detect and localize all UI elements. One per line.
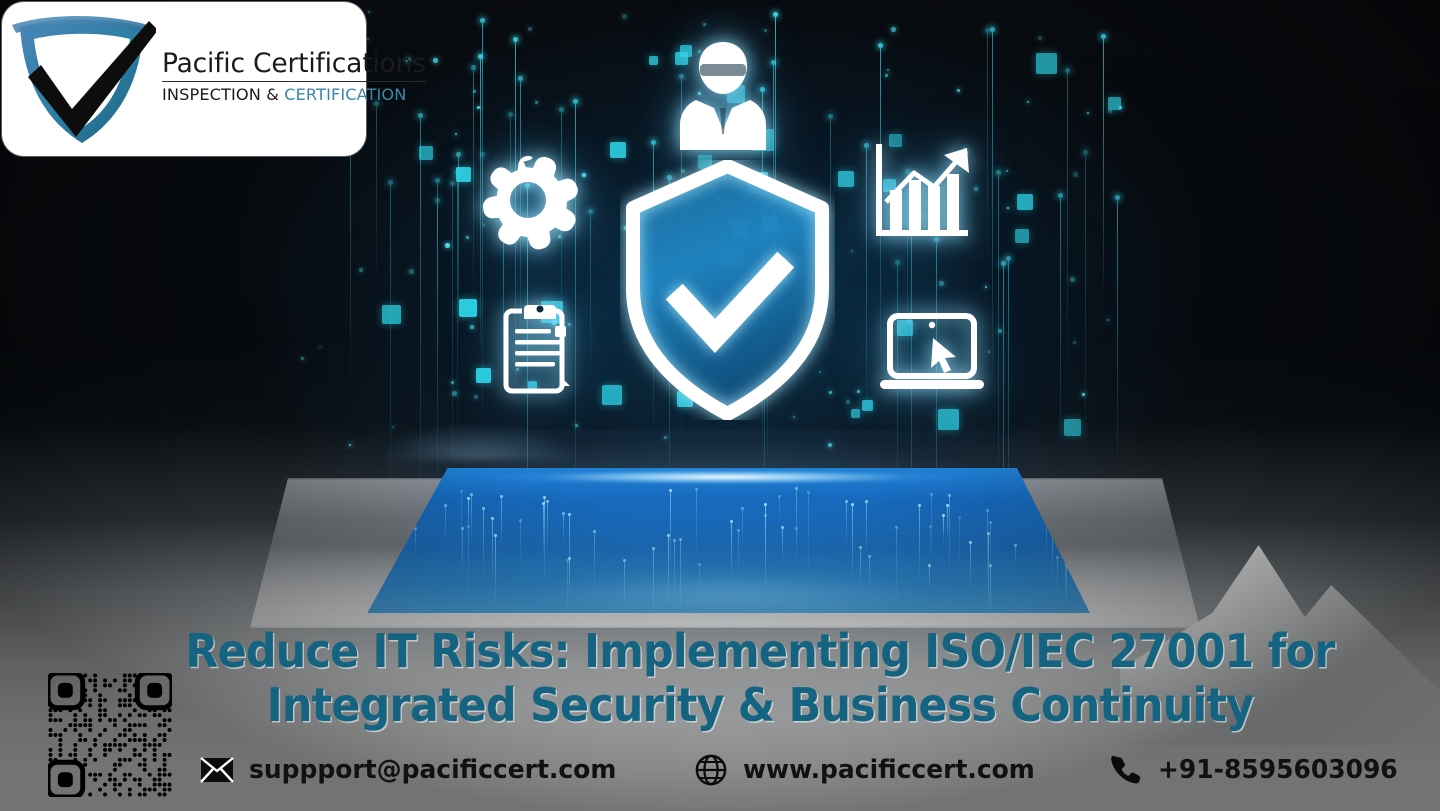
brand-divider [162,81,426,83]
globe-icon [694,753,728,787]
brand-wordmark: Pacific Certifications INSPECTION & CERT… [162,50,426,108]
gear-icon [478,150,578,250]
qr-code[interactable] [48,673,172,797]
brand-name: Pacific Certifications [162,50,426,78]
contact-phone-label: +91-8595603096 [1158,755,1398,785]
contact-website-label: www.pacificcert.com [743,755,1035,785]
contact-email[interactable]: suppport@pacificcert.com [200,753,632,787]
contact-bar: suppport@pacificcert.com www.pacificcert… [200,742,1400,798]
laptop-cursor-icon [878,312,986,394]
person-worker-icon [676,38,770,150]
shield-check-icon [620,160,835,420]
contact-email-label: suppport@pacificcert.com [249,755,616,785]
contact-website[interactable]: www.pacificcert.com [694,753,1047,787]
podium-rising-glow [330,350,630,460]
page-title-line-1: Reduce IT Risks: Implementing ISO/IEC 27… [185,624,1334,678]
envelope-icon [200,753,234,787]
page-title: Reduce IT Risks: Implementing ISO/IEC 27… [165,624,1355,733]
podium-mist [450,560,1010,630]
bar-chart-growth-icon [868,140,972,238]
pacific-shield-logo-icon [6,9,156,149]
phone-icon [1109,753,1143,787]
contact-phone[interactable]: +91-8595603096 [1109,753,1408,787]
podium-light-flare [400,464,1050,490]
poster-canvas: Pacific Certifications INSPECTION & CERT… [0,0,1440,811]
brand-tagline-left: INSPECTION & [162,85,284,104]
brand-logo[interactable]: Pacific Certifications INSPECTION & CERT… [2,2,366,156]
clipboard-checklist-icon [500,300,580,398]
data-podium [250,440,1200,640]
brand-tagline: INSPECTION & CERTIFICATION [162,85,426,104]
page-title-line-2: Integrated Security & Business Continuit… [165,678,1355,732]
brand-tagline-right: CERTIFICATION [284,85,406,104]
